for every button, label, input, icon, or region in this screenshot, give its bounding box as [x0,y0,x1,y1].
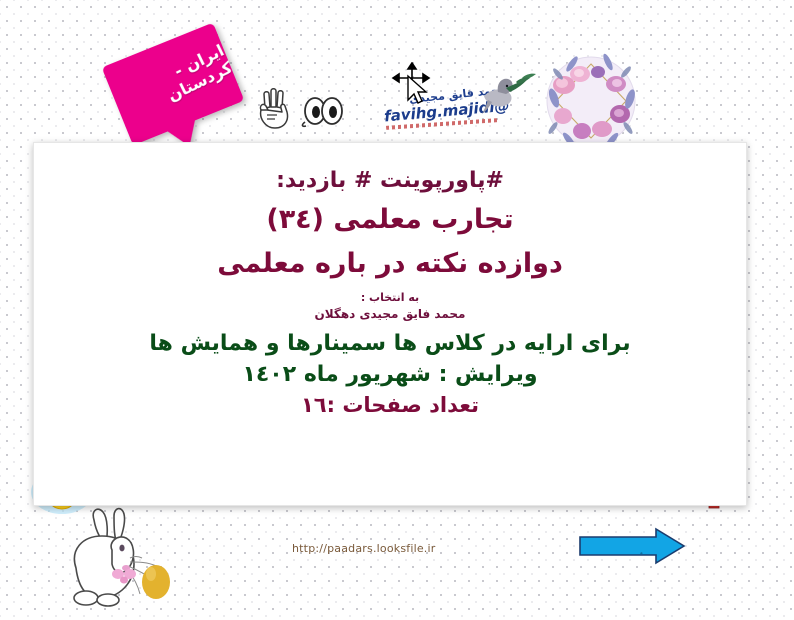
move-cursor-icon [390,62,434,106]
slide-subtitle: دوازده نکته در باره معلمی [34,247,746,280]
next-page-arrow-button[interactable]: ورق بعدی [578,527,686,565]
site-url-link[interactable]: http://paadars.looksfile.ir [292,542,435,555]
white-rabbit-with-egg-icon [64,506,194,616]
next-page-arrow-label: ورق بعدی [604,551,654,554]
hand-gesture-icon [255,88,299,130]
slide-text-block: #پاورپوینت # بازدید: تجارب معلمی (۳٤) دو… [34,167,746,418]
slide-purpose-line: برای ارایه در کلاس ها سمینارها و همایش ه… [34,330,746,357]
slide-edition-line: ویرایش : شهریور ماه ۱٤۰۲ [34,361,746,388]
dove-with-olive-branch-icon [478,70,540,116]
slide-credit-label: به انتخاب : [34,291,746,305]
slide-page-count: تعداد صفحات :۱٦ [34,392,746,418]
slide-main-title: تجارب معلمی (۳٤) [34,203,746,236]
slide-hashtag-title: #پاورپوینت # بازدید: [34,167,746,194]
floral-wreath-icon: @Teacher_learning [542,52,640,150]
slide-credit-name: محمد فایق مجیدی دهگلان [34,307,746,322]
presentation-slide-card: #پاورپوینت # بازدید: تجارب معلمی (۳٤) دو… [33,142,747,506]
cartoon-eyes-icon [300,96,344,128]
